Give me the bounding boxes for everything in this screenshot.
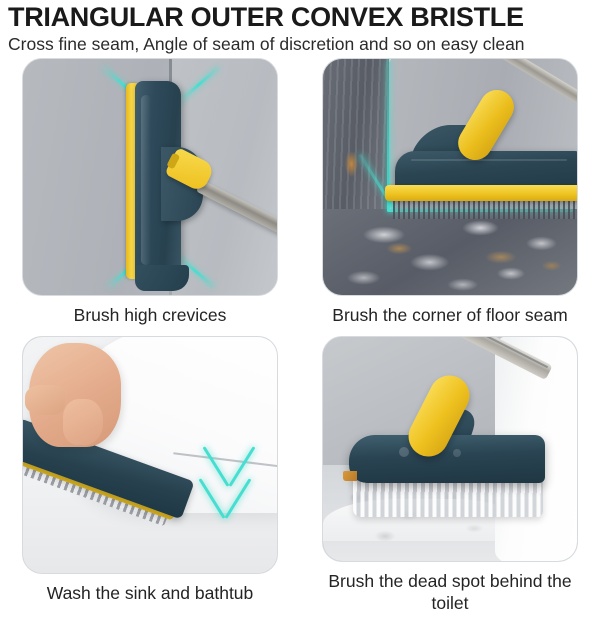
photo-brush-high-crevices [22, 58, 278, 296]
panel-caption: Brush high crevices [74, 304, 227, 326]
yellow-squeegee-blade [385, 185, 578, 201]
panel-brush-corner-floor-seam: Brush the corner of floor seam [300, 58, 600, 336]
squeegee-bottom-tip [135, 265, 189, 291]
photo-brush-dead-spot-toilet [322, 336, 578, 562]
photo-wash-sink-bathtub [22, 336, 278, 574]
hand-finger [25, 385, 65, 415]
brush-navy-head [395, 151, 578, 189]
panel-caption: Brush the dead spot behind the toilet [316, 570, 584, 614]
rust-stain [345, 151, 358, 177]
brush-white-bristles [353, 477, 543, 517]
panel-brush-dead-spot-toilet: Brush the dead spot behind the toilet [300, 336, 600, 614]
header: TRIANGULAR OUTER CONVEX BRISTLE Cross fi… [0, 2, 600, 55]
panel-brush-high-crevices: Brush high crevices [0, 58, 300, 336]
hand-thumb [63, 399, 103, 445]
panel-caption: Wash the sink and bathtub [47, 582, 254, 604]
brush-front-tip [343, 471, 357, 481]
product-infographic: TRIANGULAR OUTER CONVEX BRISTLE Cross fi… [0, 2, 600, 623]
page-subtitle: Cross fine seam, Angle of seam of discre… [8, 33, 594, 55]
page-title: TRIANGULAR OUTER CONVEX BRISTLE [8, 2, 594, 32]
mottled-floor [323, 209, 577, 295]
photo-brush-corner-floor-seam [322, 58, 578, 296]
panel-wash-sink-bathtub: Wash the sink and bathtub [0, 336, 300, 614]
panel-caption: Brush the corner of floor seam [332, 304, 567, 326]
panel-grid: Brush high crevices Brush the corner of … [0, 58, 600, 614]
brush-bristles [393, 199, 578, 219]
